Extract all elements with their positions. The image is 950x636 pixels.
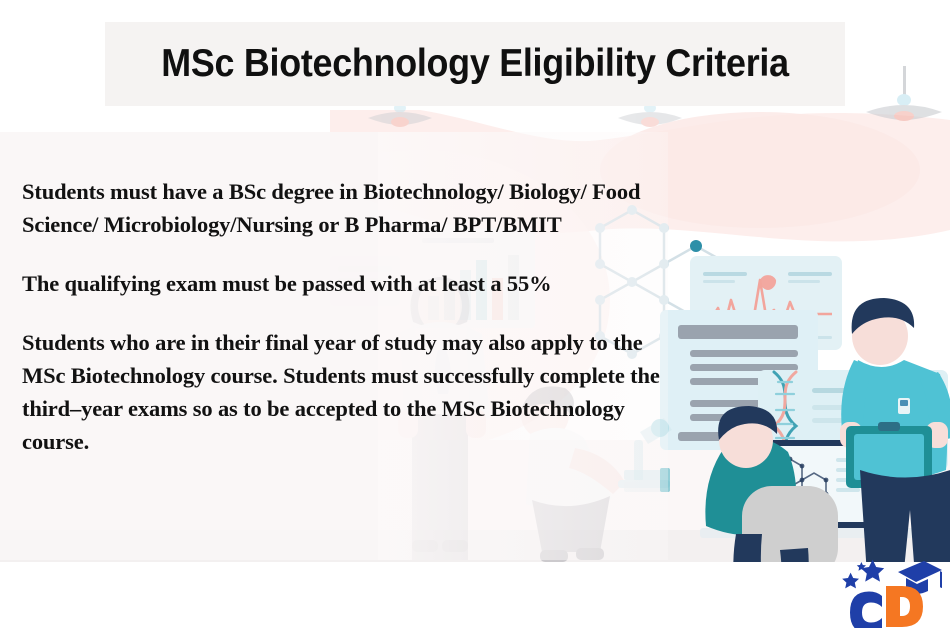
criteria-paragraph-1: Students must have a BSc degree in Biote…: [22, 175, 662, 241]
pants: [860, 468, 950, 562]
body-copy: Students must have a BSc degree in Biote…: [22, 175, 662, 458]
logo-letter-d: [886, 586, 923, 627]
criteria-paragraph-2: The qualifying exam must be passed with …: [22, 267, 662, 300]
star-icon: [861, 560, 884, 582]
page-title: MSc Biotechnology Eligibility Criteria: [161, 42, 788, 86]
slide-root: MSc Biotechnology Eligibility Criteria S…: [0, 0, 950, 636]
title-band: MSc Biotechnology Eligibility Criteria: [105, 22, 845, 106]
criteria-paragraph-3: Students who are in their final year of …: [22, 326, 662, 458]
logo-letter-c: [850, 592, 882, 629]
pendant-lamp: [866, 66, 942, 121]
collegedunia-logo[interactable]: [838, 556, 942, 628]
star-icon: [842, 573, 859, 589]
